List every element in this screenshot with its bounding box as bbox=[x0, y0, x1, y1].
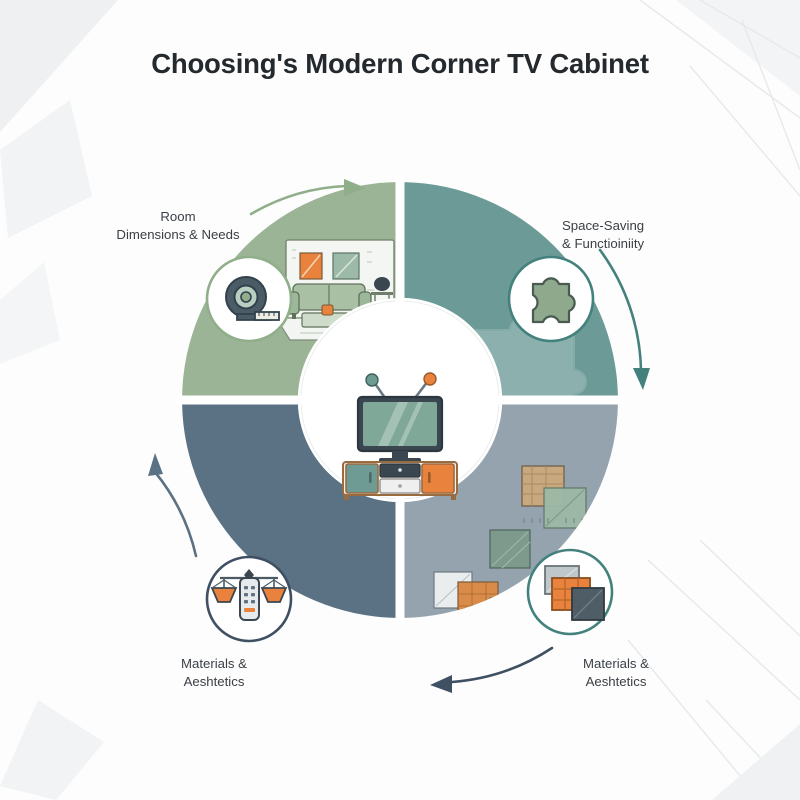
arrow-right-head bbox=[633, 368, 650, 390]
label-materials-right-line2: Aeshtetics bbox=[530, 673, 702, 691]
arrow-bottom-head bbox=[430, 675, 452, 693]
label-room-dimensions-line1: Room bbox=[92, 208, 264, 226]
label-space-saving: Space-Saving & Functioiniity bbox=[562, 217, 734, 252]
antenna-knob-left bbox=[366, 374, 378, 386]
node-badge-materials-right[interactable] bbox=[528, 550, 612, 634]
tv-neck bbox=[392, 451, 408, 459]
label-room-dimensions: Room Dimensions & Needs bbox=[92, 208, 264, 243]
label-space-saving-line1: Space-Saving bbox=[562, 217, 734, 235]
label-space-saving-line2: & Functioiniity bbox=[562, 235, 734, 253]
remote-control-icon bbox=[240, 578, 259, 620]
arrow-left-path bbox=[155, 472, 196, 556]
label-materials-left-line1: Materials & bbox=[128, 655, 300, 673]
label-materials-left-line2: Aeshtetics bbox=[128, 673, 300, 691]
label-room-dimensions-line2: Dimensions & Needs bbox=[92, 226, 264, 244]
node-badge-space-saving[interactable] bbox=[509, 257, 593, 341]
node-badge-room-dimensions[interactable] bbox=[207, 257, 291, 341]
cabinet-door-left[interactable] bbox=[346, 464, 378, 493]
puzzle-piece-icon bbox=[533, 278, 575, 322]
label-materials-left: Materials & Aeshtetics bbox=[128, 655, 300, 690]
infographic-canvas: Choosing's Modern Corner TV Cabinet bbox=[0, 0, 800, 800]
label-materials-right-line1: Materials & bbox=[530, 655, 702, 673]
arrow-left-head bbox=[148, 453, 163, 476]
label-materials-right: Materials & Aeshtetics bbox=[530, 655, 702, 690]
antenna-knob-right bbox=[424, 373, 436, 385]
cabinet-door-right[interactable] bbox=[422, 464, 454, 493]
node-badge-materials-left[interactable] bbox=[207, 557, 291, 641]
